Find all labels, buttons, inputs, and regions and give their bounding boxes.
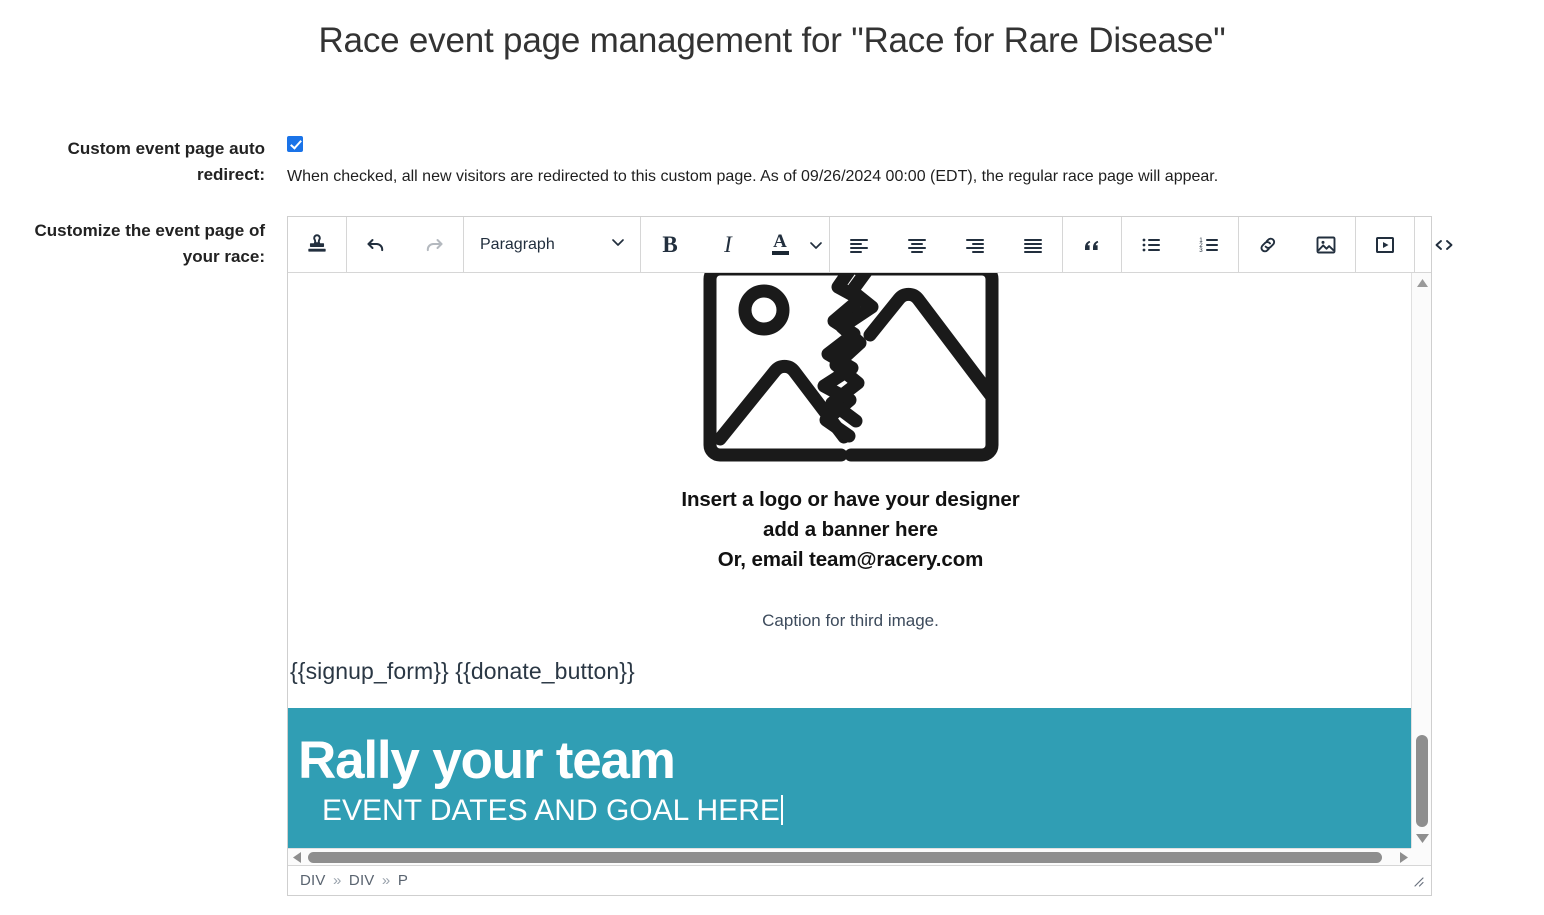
undo-icon[interactable] bbox=[347, 217, 405, 272]
toolbar-group-align bbox=[830, 217, 1063, 272]
scroll-down-arrow-icon[interactable] bbox=[1412, 828, 1431, 848]
auto-redirect-field: When checked, all new visitors are redir… bbox=[265, 122, 1544, 188]
editor-toolbar: Paragraph B I bbox=[288, 217, 1431, 273]
banner-subhead-wrap[interactable]: EVENT DATES AND GOAL HERE bbox=[298, 792, 783, 830]
italic-button[interactable]: I bbox=[699, 217, 757, 272]
element-path-sep-2: » bbox=[379, 872, 394, 889]
chevron-down-icon bbox=[610, 234, 626, 255]
block-format-select[interactable]: Paragraph bbox=[464, 217, 640, 272]
scroll-up-arrow-icon[interactable] bbox=[1412, 273, 1431, 293]
editor-content-area[interactable]: Insert a logo or have your designer add … bbox=[288, 273, 1413, 848]
logo-line-1: Insert a logo or have your designer bbox=[288, 485, 1413, 515]
forecolor-chevron-icon[interactable] bbox=[803, 237, 829, 253]
forecolor-button[interactable]: A bbox=[757, 217, 803, 272]
svg-text:3: 3 bbox=[1199, 247, 1203, 254]
editor-status-bar: DIV » DIV » P bbox=[288, 865, 1431, 895]
toolbar-group-code bbox=[1415, 217, 1473, 272]
toolbar-group-inline: B I A bbox=[641, 217, 830, 272]
logo-line-3: Or, email team@racery.com bbox=[288, 545, 1413, 575]
toolbar-group-lists: 1 2 3 bbox=[1122, 217, 1239, 272]
element-path-0[interactable]: DIV bbox=[300, 872, 326, 889]
toolbar-group-template bbox=[288, 217, 347, 272]
logo-line-2: add a banner here bbox=[288, 515, 1413, 545]
teal-banner-block[interactable]: Rally your team EVENT DATES AND GOAL HER… bbox=[288, 708, 1413, 848]
auto-redirect-label: Custom event page auto redirect: bbox=[0, 122, 265, 188]
form-area: Custom event page auto redirect: When ch… bbox=[0, 122, 1544, 896]
scroll-right-arrow-icon[interactable] bbox=[1396, 849, 1412, 865]
custom-event-page-auto-redirect-checkbox[interactable] bbox=[287, 136, 303, 152]
align-left-button[interactable] bbox=[830, 217, 888, 272]
element-path: DIV » DIV » P bbox=[300, 872, 408, 889]
numbered-list-button[interactable]: 1 2 3 bbox=[1180, 217, 1238, 272]
page-title: Race event page management for "Race for… bbox=[0, 0, 1544, 64]
editor-field: Paragraph B I bbox=[265, 204, 1544, 896]
insert-link-button[interactable] bbox=[1239, 217, 1297, 272]
element-path-1[interactable]: DIV bbox=[349, 872, 375, 889]
block-format-value: Paragraph bbox=[480, 236, 555, 254]
element-path-2[interactable]: P bbox=[398, 872, 408, 889]
bold-button[interactable]: B bbox=[641, 217, 699, 272]
toolbar-group-history bbox=[347, 217, 464, 272]
broken-image-icon bbox=[696, 273, 1006, 470]
toolbar-group-insert bbox=[1239, 217, 1356, 272]
bullet-list-button[interactable] bbox=[1122, 217, 1180, 272]
scroll-left-arrow-icon[interactable] bbox=[289, 849, 305, 865]
logo-placeholder-text: Insert a logo or have your designer add … bbox=[288, 485, 1413, 575]
customize-event-page-label: Customize the event page of your race: bbox=[0, 204, 265, 270]
toolbar-group-blockformat: Paragraph bbox=[464, 217, 641, 272]
image-caption: Caption for third image. bbox=[288, 611, 1413, 631]
editor-horizontal-scrollbar[interactable] bbox=[288, 848, 1413, 865]
redo-icon[interactable] bbox=[405, 217, 463, 272]
editor-vertical-scrollbar[interactable] bbox=[1411, 273, 1431, 848]
toolbar-group-blockquote bbox=[1063, 217, 1122, 272]
form-row-editor: Customize the event page of your race: bbox=[0, 204, 1544, 896]
blockquote-button[interactable] bbox=[1063, 217, 1121, 272]
align-justify-button[interactable] bbox=[1004, 217, 1062, 272]
auto-redirect-help-text: When checked, all new visitors are redir… bbox=[287, 166, 1544, 188]
insert-media-button[interactable] bbox=[1356, 217, 1414, 272]
vertical-scroll-thumb[interactable] bbox=[1416, 735, 1428, 827]
align-right-button[interactable] bbox=[946, 217, 1004, 272]
banner-headline[interactable]: Rally your team bbox=[298, 730, 1413, 792]
rich-text-editor: Paragraph B I bbox=[287, 216, 1432, 896]
text-caret bbox=[781, 795, 783, 825]
scrollbar-corner bbox=[1411, 848, 1431, 865]
insert-image-button[interactable] bbox=[1297, 217, 1355, 272]
form-row-auto-redirect: Custom event page auto redirect: When ch… bbox=[0, 122, 1544, 188]
shortcode-tokens-line[interactable]: {{signup_form}} {{donate_button}} bbox=[290, 658, 635, 685]
editor-body[interactable]: Insert a logo or have your designer add … bbox=[288, 273, 1431, 865]
banner-subhead: EVENT DATES AND GOAL HERE bbox=[322, 794, 780, 827]
content-image-block: Insert a logo or have your designer add … bbox=[288, 273, 1413, 631]
source-code-button[interactable] bbox=[1415, 217, 1473, 272]
stamp-icon[interactable] bbox=[288, 217, 346, 272]
horizontal-scroll-thumb[interactable] bbox=[308, 852, 1382, 863]
element-path-sep-1: » bbox=[330, 872, 345, 889]
align-center-button[interactable] bbox=[888, 217, 946, 272]
toolbar-group-media bbox=[1356, 217, 1415, 272]
editor-resize-handle[interactable] bbox=[1411, 874, 1425, 888]
